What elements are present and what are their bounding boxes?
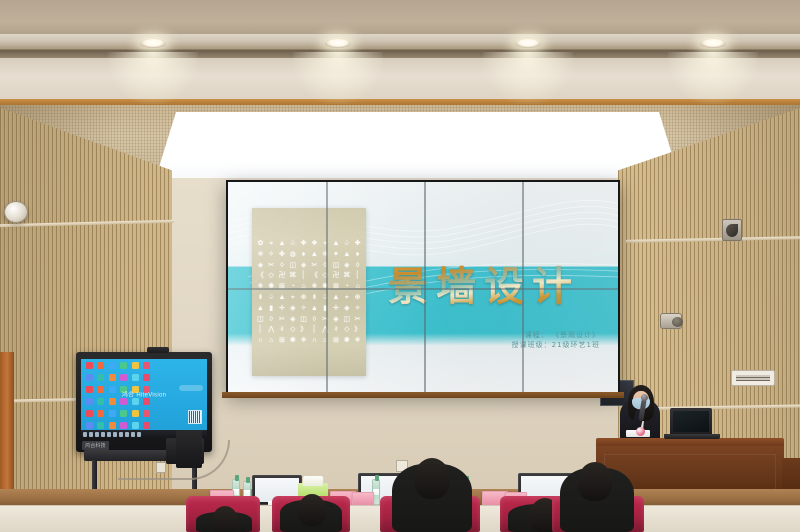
pattern-symbol: ✵ xyxy=(298,336,309,347)
podium-papers xyxy=(626,430,650,437)
pattern-symbol: 《 xyxy=(309,271,320,282)
pattern-symbol: ✂ xyxy=(320,315,331,326)
podium-top xyxy=(596,438,784,447)
pattern-symbol: ✛ xyxy=(277,304,288,315)
taskbar-item[interactable] xyxy=(125,432,129,437)
desktop-icon[interactable] xyxy=(120,362,127,369)
desktop-icon[interactable] xyxy=(109,398,116,405)
air-vent-grille-icon xyxy=(731,370,775,386)
pattern-symbol: ▲ xyxy=(331,239,342,250)
pattern-symbol: ✿ xyxy=(255,239,266,250)
pattern-symbol: ◊ xyxy=(266,315,277,326)
pattern-symbol: ⌂ xyxy=(320,336,331,347)
desktop-icon[interactable] xyxy=(132,398,139,405)
presenter-face-mask xyxy=(632,398,650,409)
display-camera-bar xyxy=(147,347,169,353)
presentation-slide: ✿⌖▲♤✚❖⌖▲♤✚❈✧✤◍♦▲❈✦▲♦◈✂◊◫◈✂◊◫◈◊《◇卍⌘│《◇卍⌘│… xyxy=(228,182,618,392)
pattern-symbol: ⋀ xyxy=(320,325,331,336)
ceiling-spotlight-4 xyxy=(700,39,726,48)
desktop-icon[interactable] xyxy=(109,386,116,393)
brand-label: 鸿合科技 xyxy=(82,441,109,450)
pattern-symbol: ◈ xyxy=(341,261,352,272)
desktop-icon[interactable] xyxy=(109,362,116,369)
pattern-symbol: ✂ xyxy=(277,315,288,326)
pattern-symbol: ▲ xyxy=(341,250,352,261)
pattern-symbol: ▮ xyxy=(266,304,277,315)
pattern-symbol: ◇ xyxy=(287,325,298,336)
pattern-symbol: ◍ xyxy=(287,250,298,261)
desktop-icon[interactable] xyxy=(132,362,139,369)
ceiling-shadow-line xyxy=(0,50,800,59)
desktop-icon[interactable] xyxy=(132,422,139,429)
podium-laptop xyxy=(670,408,712,436)
pattern-symbol: ✚ xyxy=(352,239,363,250)
pattern-symbol: ✺ xyxy=(287,336,298,347)
audience-head xyxy=(578,462,612,501)
wall-seam-right-lower xyxy=(626,404,800,410)
pattern-symbol: ⌖ xyxy=(320,239,331,250)
desktop-icon[interactable] xyxy=(86,374,93,381)
pattern-symbol: ◫ xyxy=(331,261,342,272)
led-panel-frame xyxy=(150,108,685,184)
spotlight-glow-1 xyxy=(108,52,198,104)
pattern-symbol: ◊ xyxy=(309,315,320,326)
pattern-symbol: ✦ xyxy=(331,250,342,261)
pattern-symbol: ⊞ xyxy=(277,336,288,347)
security-camera-icon xyxy=(722,219,742,241)
led-light-panel xyxy=(155,112,680,180)
pattern-symbol: २ xyxy=(277,325,288,336)
perforated-ceiling-plane xyxy=(0,105,800,183)
pattern-symbol: ✂ xyxy=(266,261,277,272)
pattern-symbol: ✂ xyxy=(352,315,363,326)
pattern-symbol: ◈ xyxy=(255,261,266,272)
pattern-symbol: ✵ xyxy=(352,336,363,347)
desktop-icon[interactable] xyxy=(109,422,116,429)
pattern-symbol: ◫ xyxy=(255,315,266,326)
pattern-symbol: ⇟ xyxy=(255,293,266,304)
equipment-rack xyxy=(746,490,800,532)
round-ceiling-speaker-icon xyxy=(4,201,28,223)
pattern-symbol: ◊ xyxy=(320,261,331,272)
pattern-symbol: │ xyxy=(255,325,266,336)
ceiling-spotlight-3 xyxy=(515,39,541,48)
desktop-icon[interactable] xyxy=(143,410,150,417)
traditional-pattern-swatch-panel: ✿⌖▲♤✚❖⌖▲♤✚❈✧✤◍♦▲❈✦▲♦◈✂◊◫◈✂◊◫◈◊《◇卍⌘│《◇卍⌘│… xyxy=(252,208,366,376)
pattern-symbol: ◊ xyxy=(352,261,363,272)
pattern-symbol: ◈ xyxy=(287,304,298,315)
desktop-icon[interactable] xyxy=(97,362,104,369)
wall-seam-left xyxy=(0,220,174,228)
pattern-symbol: ▮ xyxy=(320,304,331,315)
pattern-symbol: ♤ xyxy=(287,239,298,250)
interactive-flat-panel-display[interactable]: 鸿合 HiteVision 鸿合科技 xyxy=(76,352,212,452)
pattern-symbol: ⌘ xyxy=(287,271,298,282)
pattern-symbol: ✚ xyxy=(298,239,309,250)
slide-subtitle-block: 课程： 《景观设计》 授课班级：21级环艺1班 xyxy=(512,330,600,350)
desktop-icon[interactable] xyxy=(120,410,127,417)
door-frame xyxy=(0,352,14,502)
audience-head xyxy=(414,458,450,499)
pattern-symbol: ♦ xyxy=(298,250,309,261)
pattern-symbol: 卍 xyxy=(277,271,288,282)
pattern-symbol: ◫ xyxy=(287,261,298,272)
desktop-icon[interactable] xyxy=(143,398,150,405)
upper-wall-band xyxy=(0,58,800,102)
lecture-hall-photo: ✿⌖▲♤✚❖⌖▲♤✚❈✧✤◍♦▲❈✦▲♦◈✂◊◫◈✂◊◫◈◊《◇卍⌘│《◇卍⌘│… xyxy=(0,0,800,532)
pattern-symbol: ⇟ xyxy=(309,293,320,304)
presenter-arm xyxy=(630,408,645,435)
pattern-symbol: ▲ xyxy=(309,304,320,315)
pattern-symbol: ⊕ xyxy=(298,293,309,304)
pattern-symbol: ◫ xyxy=(298,315,309,326)
desktop-icon[interactable] xyxy=(120,422,127,429)
pattern-symbol: │ xyxy=(352,271,363,282)
lcd-video-wall[interactable]: ✿⌖▲♤✚❖⌖▲♤✚❈✧✤◍♦▲❈✦▲♦◈✂◊◫◈✂◊◫◈◊《◇卍⌘│《◇卍⌘│… xyxy=(226,180,620,394)
presenter-shirt xyxy=(637,406,645,428)
pattern-symbol: ⌖ xyxy=(266,239,277,250)
pattern-symbol: ⊞ xyxy=(331,336,342,347)
pattern-symbol: ⌂ xyxy=(266,336,277,347)
slide-title: 景墙设计 xyxy=(388,254,613,312)
wall-seam-right xyxy=(626,236,800,243)
taskbar-item[interactable] xyxy=(95,432,99,437)
pattern-symbol: ⊞ xyxy=(277,282,288,293)
desktop-icon[interactable] xyxy=(109,374,116,381)
pattern-symbol: ▲ xyxy=(331,293,342,304)
pattern-symbol: ∩ xyxy=(255,336,266,347)
pattern-symbol: ◇ xyxy=(341,325,352,336)
desktop-icon[interactable] xyxy=(97,386,104,393)
pattern-symbol: ✵ xyxy=(255,282,266,293)
pattern-symbol: ⊕ xyxy=(352,293,363,304)
pattern-symbol: ✵ xyxy=(309,282,320,293)
pattern-symbol: ◇ xyxy=(266,271,277,282)
pattern-symbol: 卍 xyxy=(331,271,342,282)
pattern-symbol: ⊞ xyxy=(331,282,342,293)
desktop-icon[interactable] xyxy=(120,398,127,405)
taskbar-item[interactable] xyxy=(137,432,141,437)
desktop-icon[interactable] xyxy=(86,386,93,393)
desktop-icon[interactable] xyxy=(132,410,139,417)
pattern-symbol: ♦ xyxy=(352,250,363,261)
pattern-symbol: ✂ xyxy=(309,261,320,272)
pattern-symbol: ⌘ xyxy=(341,271,352,282)
ceiling-shade-left xyxy=(0,105,165,183)
pattern-symbol: ♤ xyxy=(320,293,331,304)
taskbar-item[interactable] xyxy=(113,432,117,437)
pattern-symbol: │ xyxy=(309,325,320,336)
spotlight-glow-4 xyxy=(668,52,758,104)
stand-leg-left xyxy=(92,460,97,522)
desktop-icon[interactable] xyxy=(86,422,93,429)
presenter-hair xyxy=(628,385,654,421)
ceiling-spotlight-2 xyxy=(325,39,351,48)
pattern-symbol: ▲ xyxy=(277,293,288,304)
taskbar-item[interactable] xyxy=(89,432,93,437)
spotlight-glow-2 xyxy=(293,52,383,104)
pattern-symbol: ◔ xyxy=(287,282,298,293)
wood-trim-strip xyxy=(0,99,800,106)
pattern-symbol: 《 xyxy=(255,271,266,282)
presenter-face xyxy=(633,391,649,410)
ceiling-upper-soffit xyxy=(0,0,800,36)
pattern-symbol: २ xyxy=(331,325,342,336)
pattern-symbol: ◈ xyxy=(331,315,342,326)
pattern-symbol: ❈ xyxy=(320,250,331,261)
ceiling-spotlight-1 xyxy=(140,39,166,48)
stand-tray xyxy=(84,450,204,461)
display-screen[interactable]: 鸿合 HiteVision xyxy=(81,359,207,438)
wall-speaker-icon xyxy=(660,313,682,329)
pattern-symbol: ❈ xyxy=(255,250,266,261)
spotlight-glow-3 xyxy=(483,52,573,104)
desktop-icon[interactable] xyxy=(97,422,104,429)
taskbar-item[interactable] xyxy=(119,432,123,437)
pattern-symbol: │ xyxy=(298,271,309,282)
podium-cup xyxy=(636,427,645,436)
taskbar[interactable] xyxy=(81,430,207,438)
pattern-symbol: ⋀ xyxy=(266,325,277,336)
pattern-symbol: ◫ xyxy=(341,315,352,326)
desktop-icon[interactable] xyxy=(97,374,104,381)
pattern-symbol: ✺ xyxy=(266,282,277,293)
pattern-symbol: ⌂ xyxy=(352,282,363,293)
pattern-symbol-grid: ✿⌖▲♤✚❖⌖▲♤✚❈✧✤◍♦▲❈✦▲♦◈✂◊◫◈✂◊◫◈◊《◇卍⌘│《◇卍⌘│… xyxy=(255,239,363,347)
pattern-symbol: ♤ xyxy=(341,239,352,250)
pattern-symbol: ✺ xyxy=(320,282,331,293)
qr-code-widget[interactable] xyxy=(188,410,202,424)
stand-caster-left xyxy=(86,524,95,532)
desktop-icon[interactable] xyxy=(120,374,127,381)
pattern-symbol: ◈ xyxy=(298,261,309,272)
pattern-symbol: ✧ xyxy=(266,250,277,261)
pattern-symbol: ∩ xyxy=(309,336,320,347)
pattern-symbol: ♤ xyxy=(266,293,277,304)
audience-head xyxy=(212,506,238,532)
slide-class-line: 授课班级：21级环艺1班 xyxy=(512,340,600,350)
desktop-icon[interactable] xyxy=(109,410,116,417)
pattern-symbol: 》 xyxy=(352,325,363,336)
ceiling-shade-right xyxy=(625,105,800,183)
pattern-symbol: ◊ xyxy=(277,261,288,272)
pattern-symbol: ⌖ xyxy=(341,293,352,304)
taskbar-item[interactable] xyxy=(131,432,135,437)
taskbar-item[interactable] xyxy=(101,432,105,437)
desktop-icon[interactable] xyxy=(143,374,150,381)
pattern-symbol: ◈ xyxy=(287,315,298,326)
desktop-icon[interactable] xyxy=(132,374,139,381)
pattern-symbol: ▲ xyxy=(309,250,320,261)
taskbar-item[interactable] xyxy=(107,432,111,437)
pattern-symbol: ✛ xyxy=(331,304,342,315)
podium-side-panel xyxy=(782,458,800,504)
desktop-icon[interactable] xyxy=(143,422,150,429)
clock-widget[interactable] xyxy=(179,385,203,391)
audience-head xyxy=(298,494,326,526)
pattern-symbol: 》 xyxy=(298,325,309,336)
attendee-name-card xyxy=(352,492,374,507)
pattern-symbol: ❖ xyxy=(309,239,320,250)
desktop-icon[interactable] xyxy=(97,410,104,417)
taskbar-item[interactable] xyxy=(83,432,87,437)
pattern-symbol: ⌂ xyxy=(298,282,309,293)
pattern-symbol: ◈ xyxy=(341,304,352,315)
pattern-symbol: ⌖ xyxy=(287,293,298,304)
pattern-symbol: ✺ xyxy=(341,336,352,347)
ceiling-cornice-band xyxy=(0,34,800,50)
pattern-symbol: ✧ xyxy=(298,304,309,315)
pattern-symbol: ◇ xyxy=(320,271,331,282)
desktop-watermark: 鸿合 HiteVision xyxy=(122,389,166,398)
pattern-symbol: ✤ xyxy=(277,250,288,261)
pattern-symbol: ▲ xyxy=(277,239,288,250)
slide-course-line: 课程： 《景观设计》 xyxy=(512,330,600,340)
pattern-symbol: ▲ xyxy=(255,304,266,315)
pattern-symbol: ✧ xyxy=(352,304,363,315)
desktop-icon[interactable] xyxy=(86,362,93,369)
pattern-symbol: ◔ xyxy=(341,282,352,293)
desktop-icon[interactable] xyxy=(86,398,93,405)
desktop-icon[interactable] xyxy=(97,398,104,405)
desktop-icon[interactable] xyxy=(143,362,150,369)
handheld-microphone xyxy=(638,399,646,422)
desktop-icon[interactable] xyxy=(86,410,93,417)
